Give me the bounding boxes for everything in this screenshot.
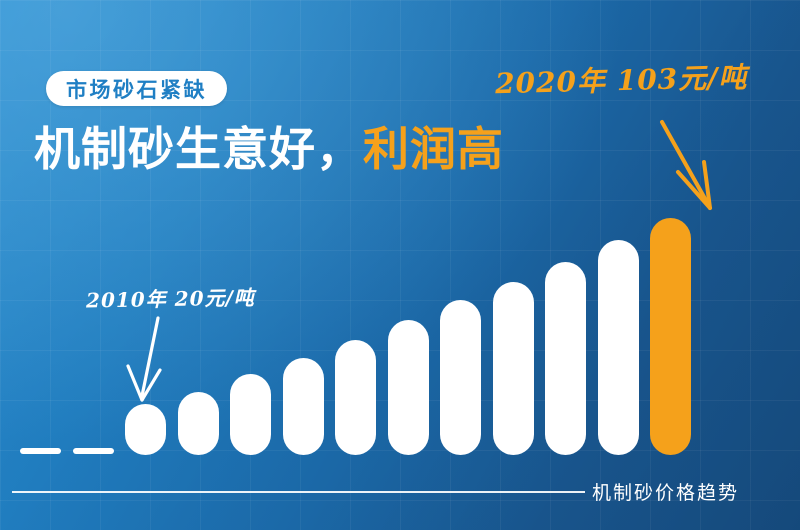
chart-bar xyxy=(388,320,429,455)
chart-bar xyxy=(598,240,639,455)
headline-primary: 机制砂生意好， xyxy=(34,126,363,172)
badge-label: 市场砂石紧缺 xyxy=(66,74,207,104)
page-title: 机制砂生意好， 利润高 xyxy=(34,126,504,172)
chart-bar xyxy=(125,404,166,455)
chart-bar xyxy=(545,262,586,455)
chart-bar xyxy=(230,374,271,455)
chart-bar xyxy=(440,300,481,455)
chart-bar xyxy=(178,392,219,455)
chart-bar xyxy=(650,218,691,455)
annotation-2020: 2020年 103元/吨 xyxy=(495,56,748,103)
market-shortage-badge[interactable]: 市场砂石紧缺 xyxy=(46,71,227,106)
footer-divider xyxy=(12,491,585,493)
arrow-to-2020-bar-icon xyxy=(650,100,750,220)
chart-bar-dash xyxy=(73,448,114,454)
headline-accent: 利润高 xyxy=(363,126,504,172)
chart-bar-dash xyxy=(20,448,61,454)
chart-bar xyxy=(493,282,534,455)
chart-bar xyxy=(283,358,324,455)
chart-bar xyxy=(335,340,376,455)
annotation-2010: 2010年 20元/吨 xyxy=(86,282,255,314)
arrow-to-2010-bar-icon xyxy=(112,312,182,422)
poster-canvas: 市场砂石紧缺 机制砂生意好， 利润高 2020年 103元/吨 2010年 20… xyxy=(0,0,800,530)
chart-caption: 机制砂价格趋势 xyxy=(592,478,739,505)
